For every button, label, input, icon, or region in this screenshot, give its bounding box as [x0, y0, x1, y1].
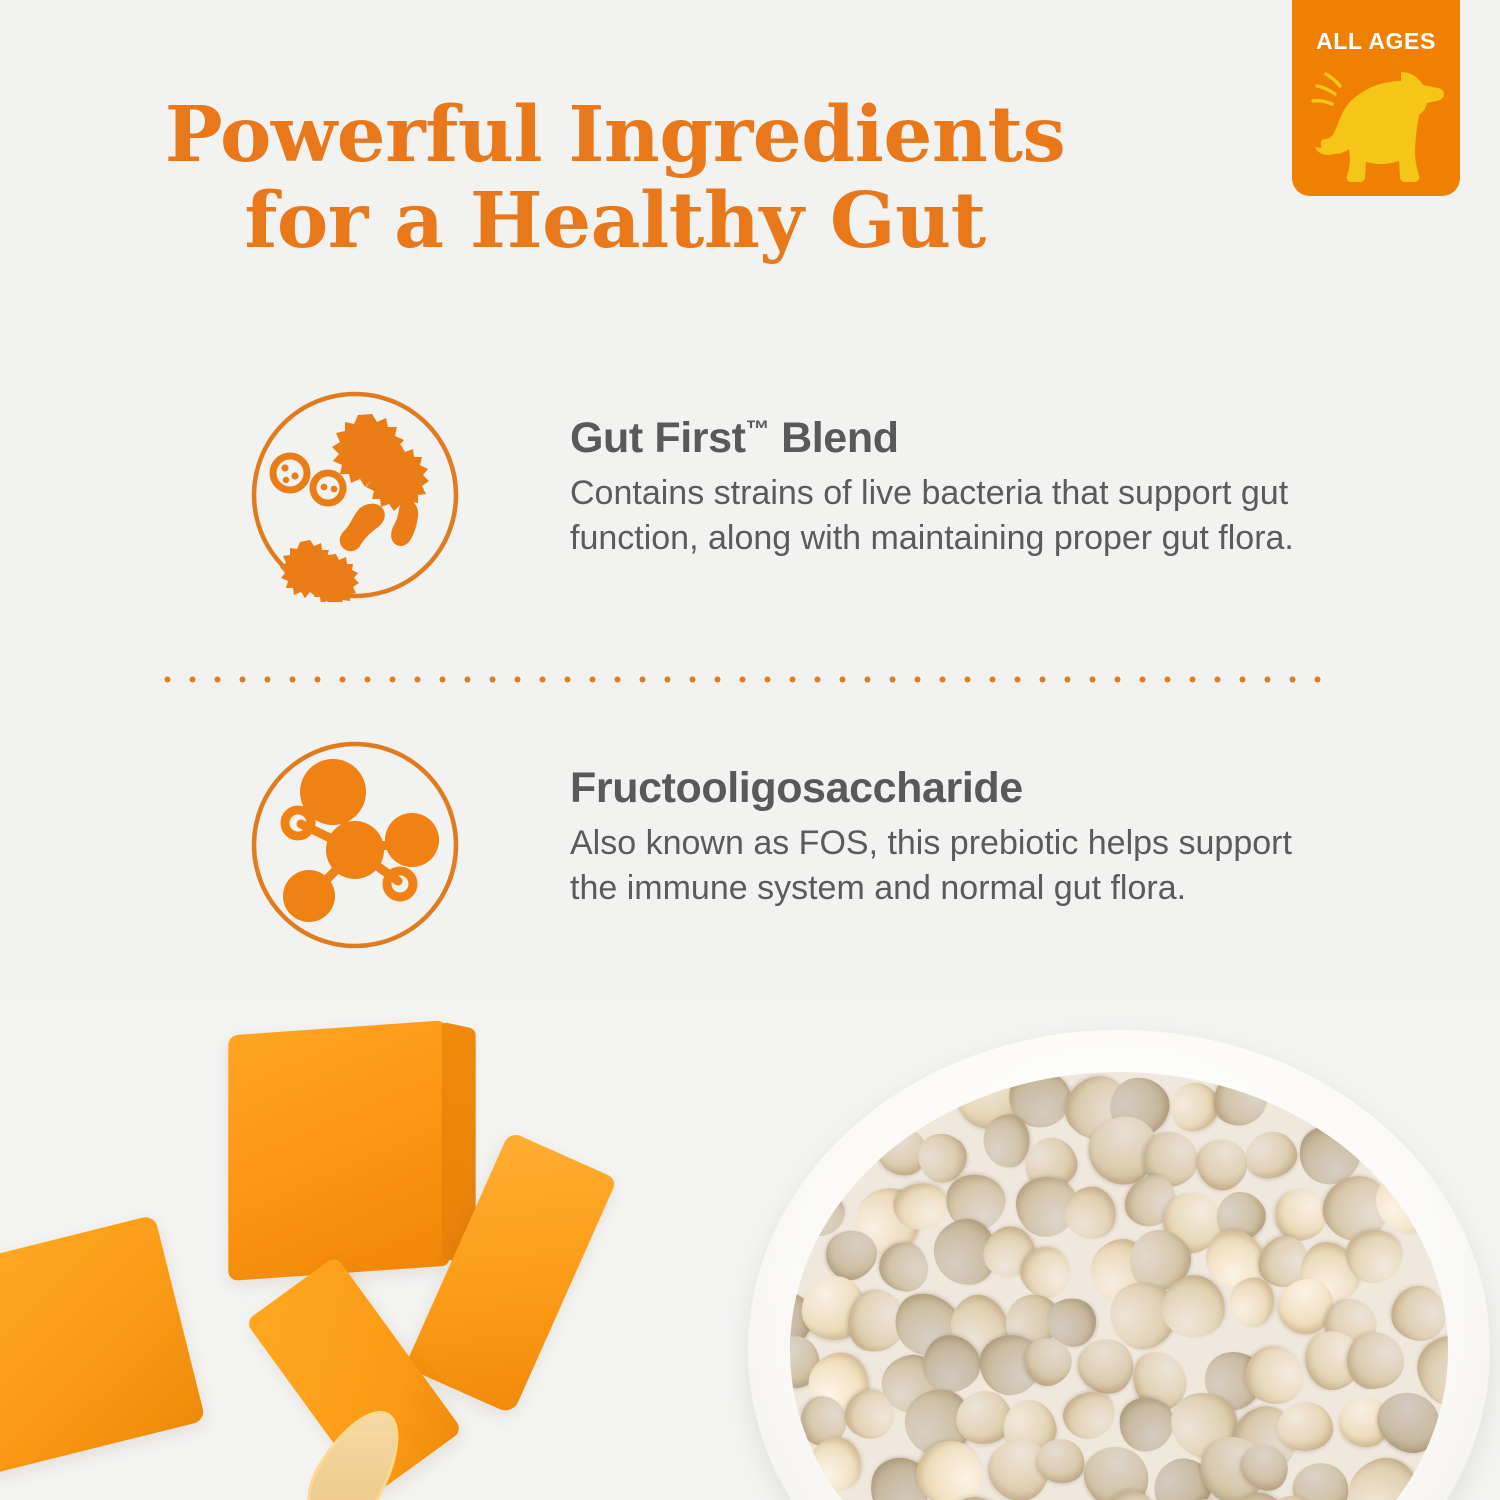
pumpkin-chunk [0, 1215, 206, 1486]
chickpea [1276, 1402, 1333, 1452]
chickpea [1288, 1457, 1355, 1500]
chickpea [984, 1115, 1030, 1168]
chickpea [1116, 1396, 1175, 1454]
page-title-line2: for a Healthy Gut [0, 178, 1230, 264]
infographic-canvas: ALL AGES Powerful Ingredients for a Heal… [0, 0, 1500, 1500]
bacteria-microbes-icon [248, 388, 462, 602]
chickpea [1057, 1385, 1121, 1445]
chickpeas-fill [790, 1072, 1448, 1500]
page-title: Powerful Ingredients for a Healthy Gut [0, 92, 1230, 264]
feature-body: Contains strains of live bacteria that s… [570, 471, 1330, 561]
feature-body: Also known as FOS, this prebiotic helps … [570, 821, 1330, 911]
feature-text-block: Gut First™ Blend Contains strains of liv… [570, 416, 1330, 562]
molecule-icon [248, 738, 462, 952]
feature-title: Gut First™ Blend [570, 416, 1330, 461]
feature-title-main: Fructooligosaccharide [570, 764, 1023, 812]
dotted-divider [155, 674, 1337, 685]
chickpea [1205, 1072, 1280, 1136]
pumpkin-chunk [228, 1020, 449, 1281]
feature-title: Fructooligosaccharide [570, 766, 1330, 811]
page-title-line1: Powerful Ingredients [165, 90, 1066, 180]
chickpea [1340, 1450, 1426, 1500]
sitting-dog-icon [1306, 64, 1446, 186]
feature-text-block: Fructooligosaccharide Also known as FOS,… [570, 766, 1330, 912]
bowl-of-chickpeas-photo [748, 1030, 1490, 1500]
feature-title-main: Gut First [570, 414, 746, 462]
all-ages-badge: ALL AGES [1292, 0, 1460, 196]
chickpea [1273, 1187, 1330, 1243]
trademark-symbol: ™ [746, 416, 770, 443]
chickpea [1345, 1331, 1405, 1391]
all-ages-badge-label: ALL AGES [1292, 28, 1460, 55]
chickpea [1239, 1125, 1303, 1185]
chickpea [791, 1187, 848, 1239]
feature-title-suffix: Blend [770, 414, 899, 462]
bottom-photo-strip [0, 1000, 1500, 1500]
